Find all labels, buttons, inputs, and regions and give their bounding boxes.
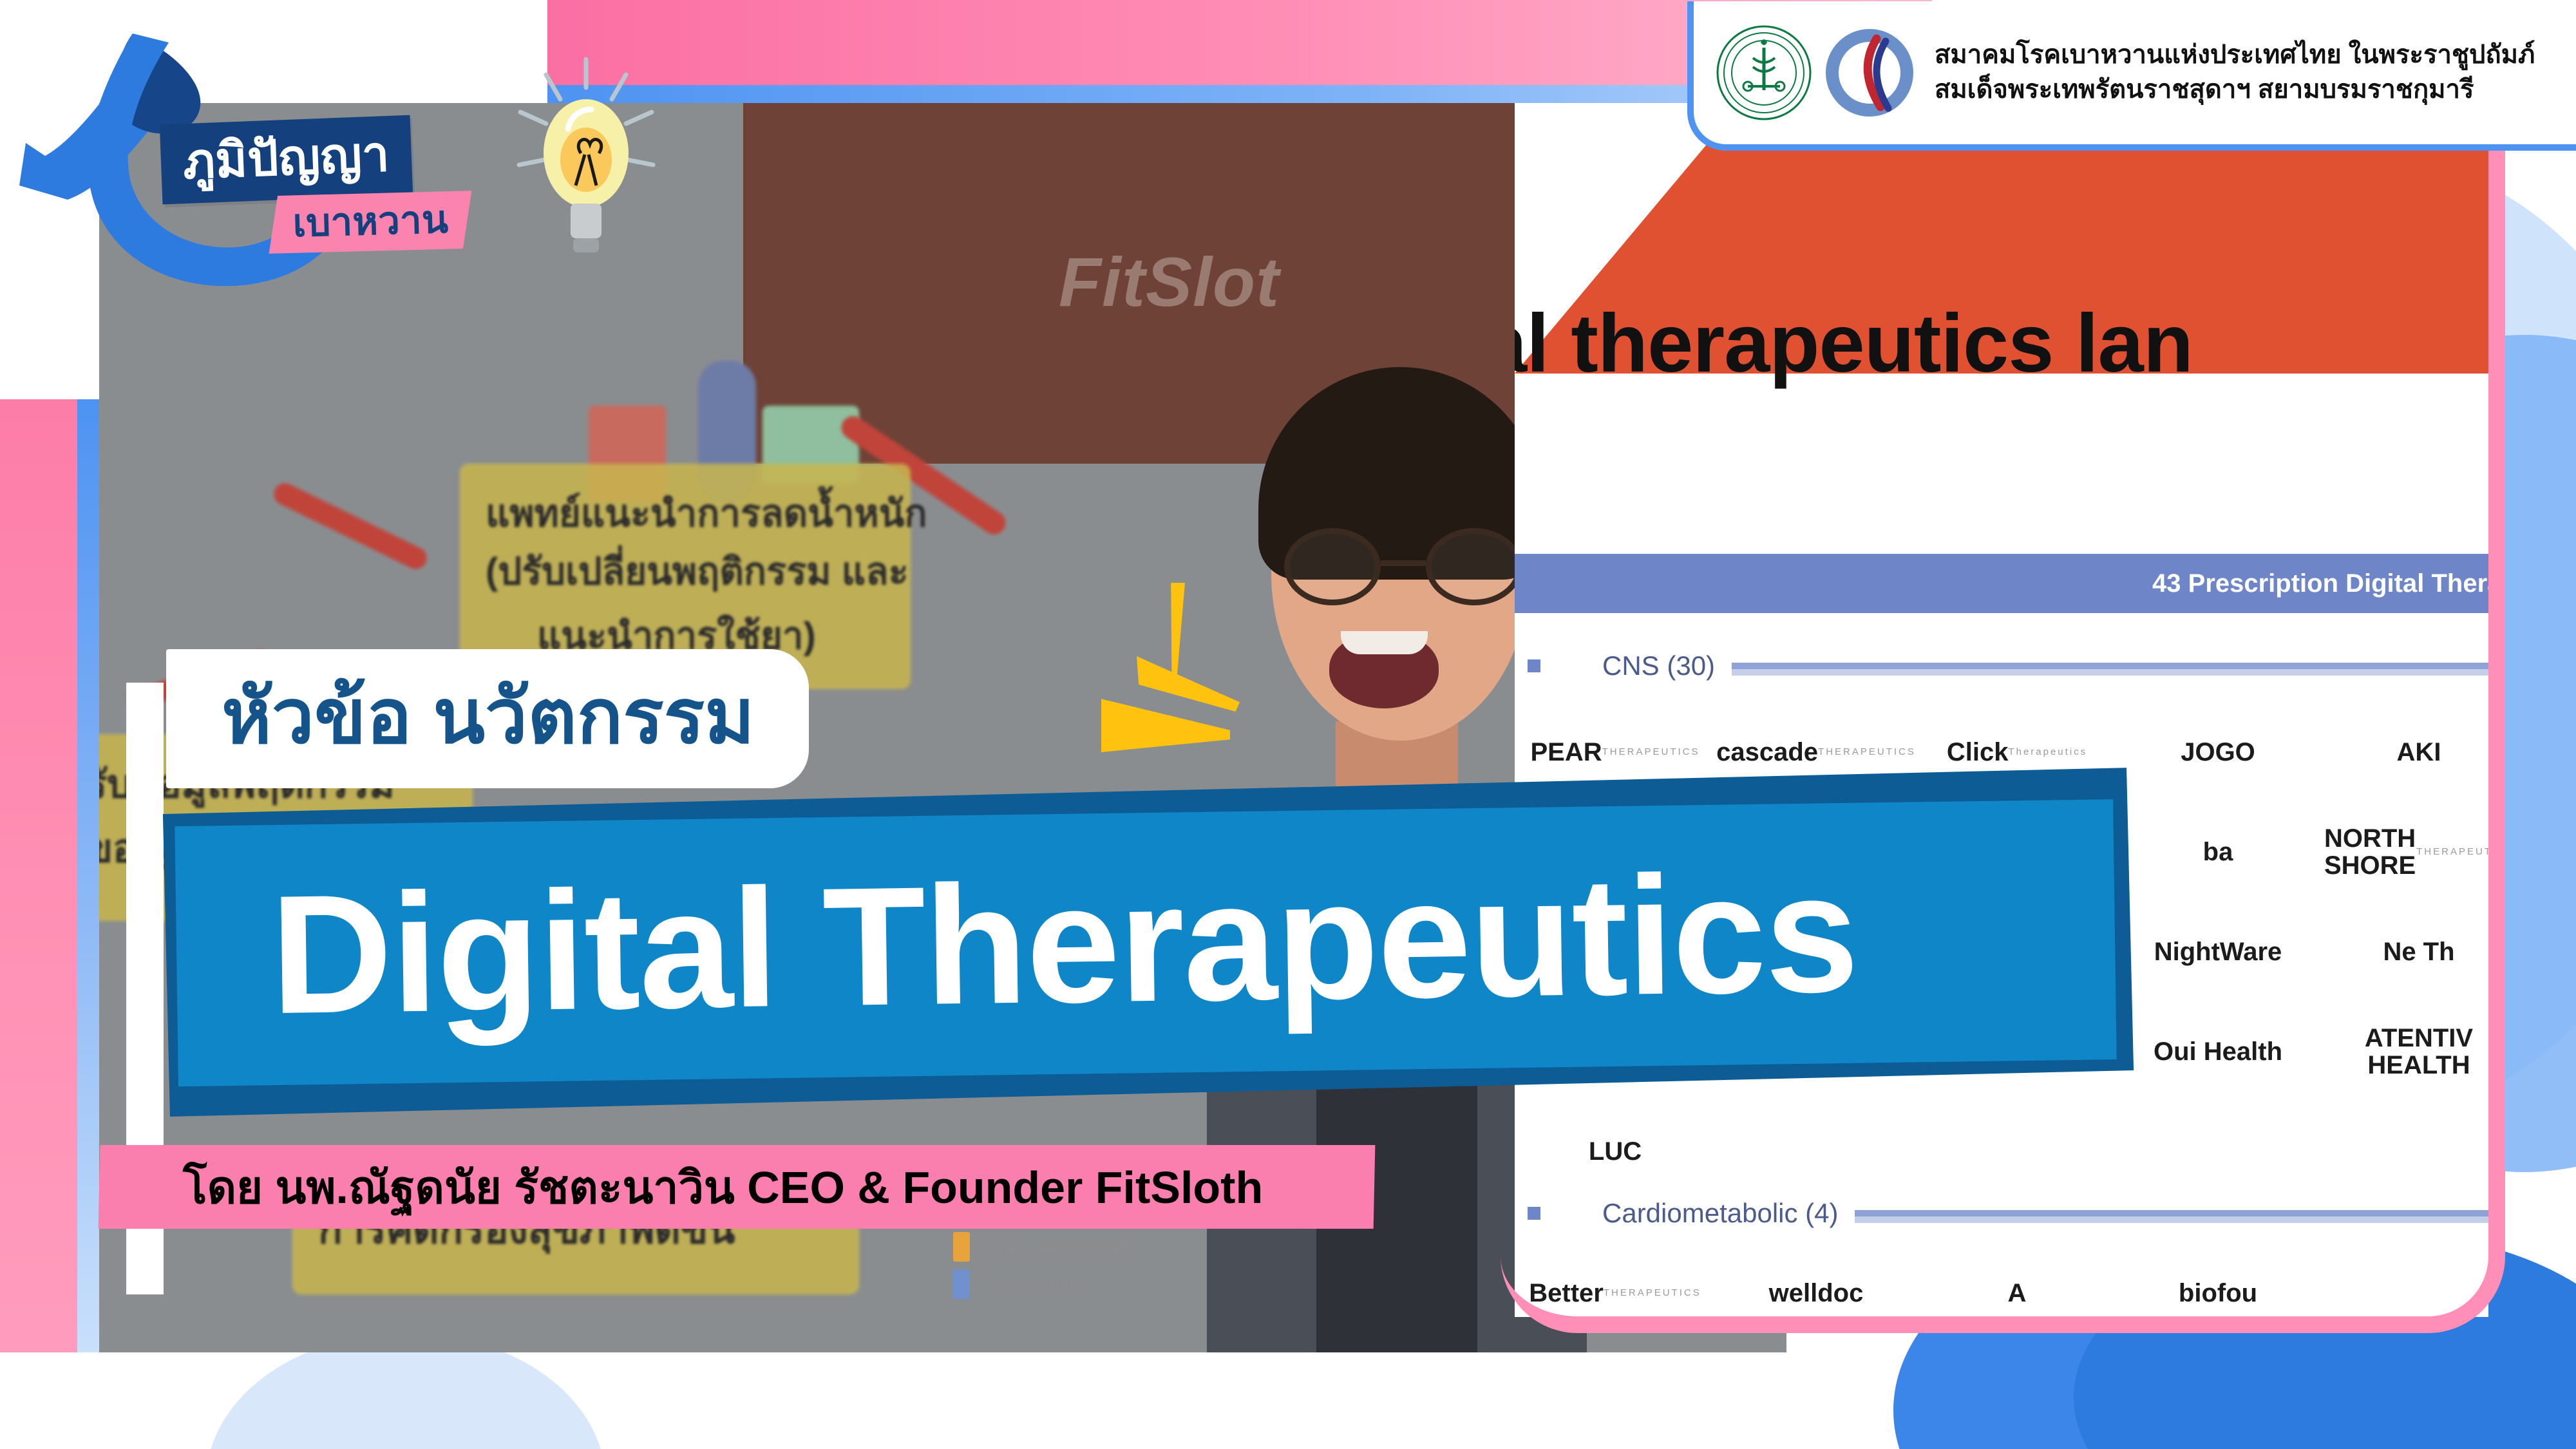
- legend-item: Late Development: [953, 1232, 1166, 1262]
- speaker-credit: โดย นพ.ณัฐดนัย รัชตะนาวิน CEO & Founder …: [183, 1151, 1263, 1223]
- brand-name-sub: เบาหวาน: [292, 200, 449, 243]
- slide-note-text-1: แพทย์แนะนำการลดน้ำหนัก: [486, 483, 927, 543]
- video-thumbnail: FitSlot แพทย์แนะนำการลดน้ำหนัก (ปรับเปลี…: [0, 0, 2576, 1449]
- left-blue-strip: [77, 399, 99, 1352]
- glasses-bridge: [1381, 560, 1426, 566]
- legend-label: Commercial: [981, 1273, 1084, 1295]
- association-header: สมาคมโรคเบาหวานแห่งประเทศไทย ในพระราชูปถ…: [1687, 1, 2576, 151]
- topic-label: หัวข้อ นวัตกรรม: [222, 674, 755, 759]
- page-title: Digital Therapeutics: [269, 849, 1859, 1039]
- glasses-icon: [1284, 528, 1522, 605]
- presenter-teeth: [1341, 631, 1428, 654]
- title-banner-outer: Digital Therapeutics: [163, 768, 2134, 1117]
- diabetes-association-seal-icon: [1716, 24, 1812, 121]
- lightbulb-icon: [509, 57, 663, 263]
- brand-name-main: ภูมิปัญญา: [182, 127, 390, 189]
- glasses-lens-left: [1284, 528, 1381, 605]
- brand-sub-banner: เบาหวาน: [269, 191, 472, 254]
- legend-item: Commercial: [953, 1269, 1166, 1299]
- legend-swatch: [953, 1269, 970, 1299]
- program-logo: ภูมิปัญญา เบาหวาน: [6, 6, 650, 290]
- slide-note-text-2: (ปรับเปลี่ยนพฤติกรรม และ: [486, 541, 909, 601]
- legend-swatch: [953, 1232, 970, 1262]
- association-name: สมาคมโรคเบาหวานแห่งประเทศไทย ในพระราชูปถ…: [1935, 38, 2535, 107]
- topic-banner: หัวข้อ นวัตกรรม: [166, 649, 809, 788]
- association-line-2: สมเด็จพระเทพรัตนราชสุดาฯ สยามบรมราชกุมาร…: [1935, 73, 2535, 108]
- legend-label: Late Development: [981, 1236, 1139, 1258]
- title-banner-inner: Digital Therapeutics: [175, 799, 2116, 1086]
- left-pink-band: [0, 399, 77, 1352]
- association-line-1: สมาคมโรคเบาหวานแห่งประเทศไทย ในพระราชูปถ…: [1935, 38, 2535, 73]
- diabetes-association-circle-icon: [1821, 24, 1918, 121]
- screen-pink-frame: [1501, 97, 2505, 1333]
- brand-name-banner: ภูมิปัญญา: [160, 115, 413, 205]
- speaker-credit-banner: โดย นพ.ณัฐดนัย รัชตะนาวิน CEO & Founder …: [99, 1145, 1376, 1229]
